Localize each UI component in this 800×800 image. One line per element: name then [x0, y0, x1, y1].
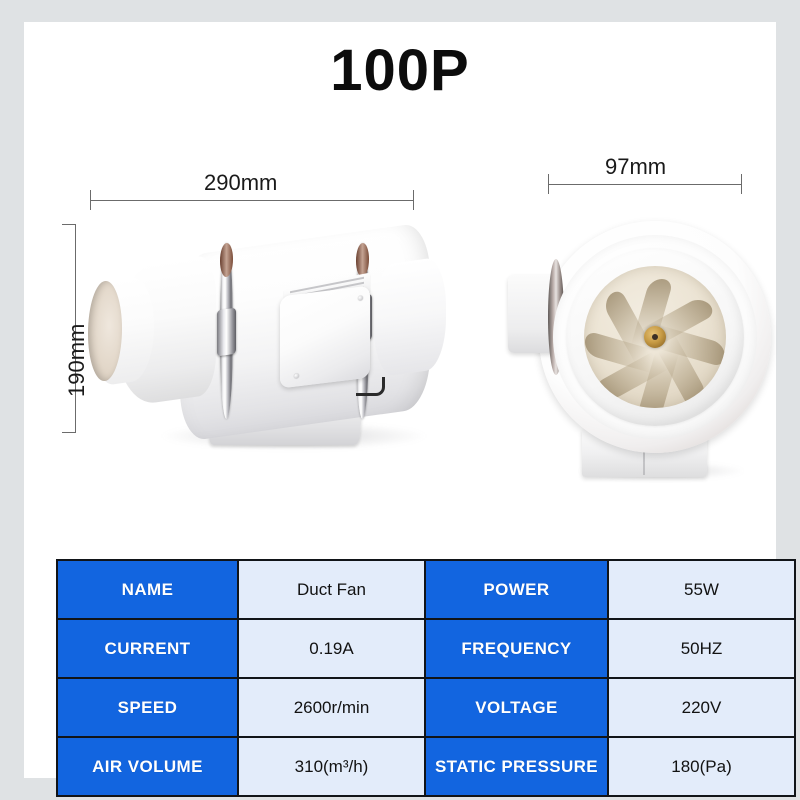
- spec-value: 55W: [608, 560, 795, 619]
- spec-value: 2600r/min: [238, 678, 425, 737]
- spec-key: POWER: [425, 560, 608, 619]
- right-width-label: 97mm: [605, 154, 666, 180]
- spec-key: AIR VOLUME: [57, 737, 238, 796]
- spec-value: Duct Fan: [238, 560, 425, 619]
- spec-key: SPEED: [57, 678, 238, 737]
- spec-key: FREQUENCY: [425, 619, 608, 678]
- outlet-duct-spout: [374, 256, 446, 378]
- spec-value: 180(Pa): [608, 737, 795, 796]
- spec-key: NAME: [57, 560, 238, 619]
- spec-value: 310(m³/h): [238, 737, 425, 796]
- dimension-line-horizontal: [548, 184, 742, 185]
- specification-table: NAME Duct Fan POWER 55W CURRENT 0.19A FR…: [56, 559, 796, 797]
- product-spec-page: 100P 290mm 190mm: [0, 0, 800, 800]
- table-row: SPEED 2600r/min VOLTAGE 220V: [57, 678, 795, 737]
- inline-duct-fan-angled-view: [84, 217, 454, 477]
- junction-box: [280, 285, 370, 388]
- spec-value: 220V: [608, 678, 795, 737]
- dimension-line-horizontal: [90, 200, 414, 201]
- screw-icon: [358, 295, 363, 301]
- inline-duct-fan-front-view: [504, 217, 794, 487]
- spec-key: VOLTAGE: [425, 678, 608, 737]
- dimension-tick-left: [90, 190, 91, 210]
- screw-icon: [294, 373, 299, 379]
- impeller-hub: [644, 326, 666, 348]
- spec-table-body: NAME Duct Fan POWER 55W CURRENT 0.19A FR…: [57, 560, 795, 796]
- dimension-tick-left: [548, 174, 549, 194]
- dimension-tick-top: [62, 224, 76, 225]
- spec-value: 0.19A: [238, 619, 425, 678]
- power-wire: [356, 377, 385, 396]
- dimension-tick-right: [413, 190, 414, 210]
- page-title: 100P: [24, 40, 776, 102]
- table-row: NAME Duct Fan POWER 55W: [57, 560, 795, 619]
- left-width-label: 290mm: [204, 170, 277, 196]
- spec-value: 50HZ: [608, 619, 795, 678]
- dimension-tick-right: [741, 174, 742, 194]
- spec-key: STATIC PRESSURE: [425, 737, 608, 796]
- table-row: CURRENT 0.19A FREQUENCY 50HZ: [57, 619, 795, 678]
- clamp-buckle-front: [217, 308, 236, 357]
- content-panel: 100P 290mm 190mm: [24, 22, 776, 778]
- dimension-tick-bottom: [62, 432, 76, 433]
- table-row: AIR VOLUME 310(m³/h) STATIC PRESSURE 180…: [57, 737, 795, 796]
- spec-key: CURRENT: [57, 619, 238, 678]
